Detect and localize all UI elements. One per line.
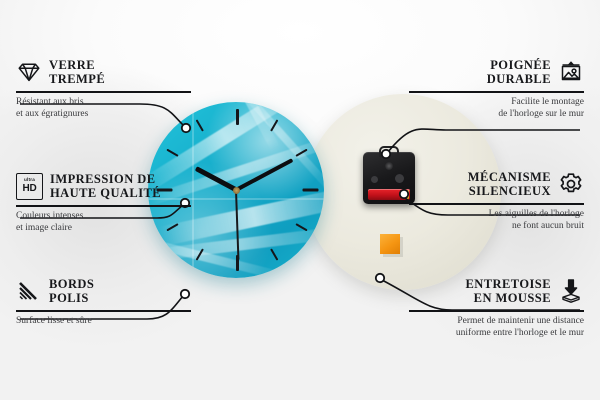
callout-title-line1: VERRE bbox=[49, 58, 105, 72]
callout-desc-line2: et aux égratignures bbox=[16, 109, 191, 121]
foam-spacer-arrow-icon bbox=[558, 278, 584, 304]
callout-desc-line2: et image claire bbox=[16, 223, 191, 235]
glass-reflection-line bbox=[192, 102, 194, 278]
callout-title-line2: SILENCIEUX bbox=[468, 184, 551, 198]
diamond-icon bbox=[16, 59, 42, 85]
callout-title-line1: POIGNÉE bbox=[487, 58, 551, 72]
callout-desc-line1: Facilite le montage bbox=[409, 97, 584, 109]
clock-tick bbox=[166, 149, 178, 157]
callout-desc-line2: uniforme entre l'horloge et le mur bbox=[409, 328, 584, 340]
callout-divider bbox=[16, 91, 191, 93]
callout-desc-line1: Les aiguilles de l'horloge bbox=[409, 209, 584, 221]
callout-poignee-durable[interactable]: POIGNÉE DURABLE Facilite le montage de l… bbox=[409, 58, 584, 120]
callout-impression-haute-qualite[interactable]: ultra HD IMPRESSION DE HAUTE QUALITÉ Cou… bbox=[16, 172, 191, 234]
clock-tick bbox=[236, 109, 239, 125]
mechanism-detail-dot bbox=[371, 176, 378, 183]
callout-verre-trempe[interactable]: VERRE TREMPÉ Résistant aux bris et aux é… bbox=[16, 58, 191, 120]
callout-desc-line1: Surface lisse et sûre bbox=[16, 316, 191, 328]
callout-title-line1: ENTRETOISE bbox=[465, 277, 551, 291]
callout-divider bbox=[16, 205, 191, 207]
ultra-hd-icon-bottom: HD bbox=[22, 184, 36, 194]
callout-title-line2: EN MOUSSE bbox=[465, 291, 551, 305]
callout-title-line2: HAUTE QUALITÉ bbox=[50, 186, 161, 200]
foam-spacer-square bbox=[380, 234, 400, 254]
callout-title-line1: BORDS bbox=[49, 277, 94, 291]
callout-title-line1: IMPRESSION DE bbox=[50, 172, 161, 186]
callout-desc-line1: Résistant aux bris bbox=[16, 97, 191, 109]
callout-header: MÉCANISME SILENCIEUX bbox=[409, 170, 584, 198]
infographic-canvas: VERRE TREMPÉ Résistant aux bris et aux é… bbox=[0, 0, 600, 400]
callout-divider bbox=[16, 310, 191, 312]
callout-header: ultra HD IMPRESSION DE HAUTE QUALITÉ bbox=[16, 172, 191, 200]
callout-mecanisme-silencieux[interactable]: MÉCANISME SILENCIEUX Les aiguilles de l'… bbox=[409, 170, 584, 232]
callout-title-line2: TREMPÉ bbox=[49, 72, 105, 86]
callout-desc-line1: Couleurs intenses bbox=[16, 211, 191, 223]
clock-tick bbox=[196, 119, 204, 131]
callout-header: BORDS POLIS bbox=[16, 277, 191, 305]
polished-edges-icon bbox=[16, 278, 42, 304]
callout-header: ENTRETOISE EN MOUSSE bbox=[409, 277, 584, 305]
picture-hanger-icon bbox=[558, 59, 584, 85]
callout-header: VERRE TREMPÉ bbox=[16, 58, 191, 86]
clock-battery bbox=[368, 189, 410, 200]
mechanism-detail-dot bbox=[395, 174, 404, 183]
callout-title-line2: DURABLE bbox=[487, 72, 551, 86]
clock-center-cap bbox=[233, 187, 240, 194]
callout-desc-line1: Permet de maintenir une distance bbox=[409, 316, 584, 328]
callout-divider bbox=[409, 203, 584, 205]
callout-divider bbox=[409, 91, 584, 93]
callout-bords-polis[interactable]: BORDS POLIS Surface lisse et sûre bbox=[16, 277, 191, 328]
callout-entretoise-en-mousse[interactable]: ENTRETOISE EN MOUSSE Permet de maintenir… bbox=[409, 277, 584, 339]
clock-mechanism bbox=[363, 152, 415, 204]
mechanism-hanger-tab bbox=[379, 146, 399, 157]
gear-icon bbox=[558, 171, 584, 197]
callout-desc-line2: ne font aucun bruit bbox=[409, 221, 584, 233]
callout-desc-line2: de l'horloge sur le mur bbox=[409, 109, 584, 121]
callout-title-line2: POLIS bbox=[49, 291, 94, 305]
callout-header: POIGNÉE DURABLE bbox=[409, 58, 584, 86]
callout-title-line1: MÉCANISME bbox=[468, 170, 551, 184]
clock-tick bbox=[270, 248, 278, 260]
callout-divider bbox=[409, 310, 584, 312]
ultra-hd-icon: ultra HD bbox=[16, 173, 43, 200]
mechanism-spindle bbox=[385, 162, 393, 170]
clock-tick bbox=[303, 189, 319, 192]
